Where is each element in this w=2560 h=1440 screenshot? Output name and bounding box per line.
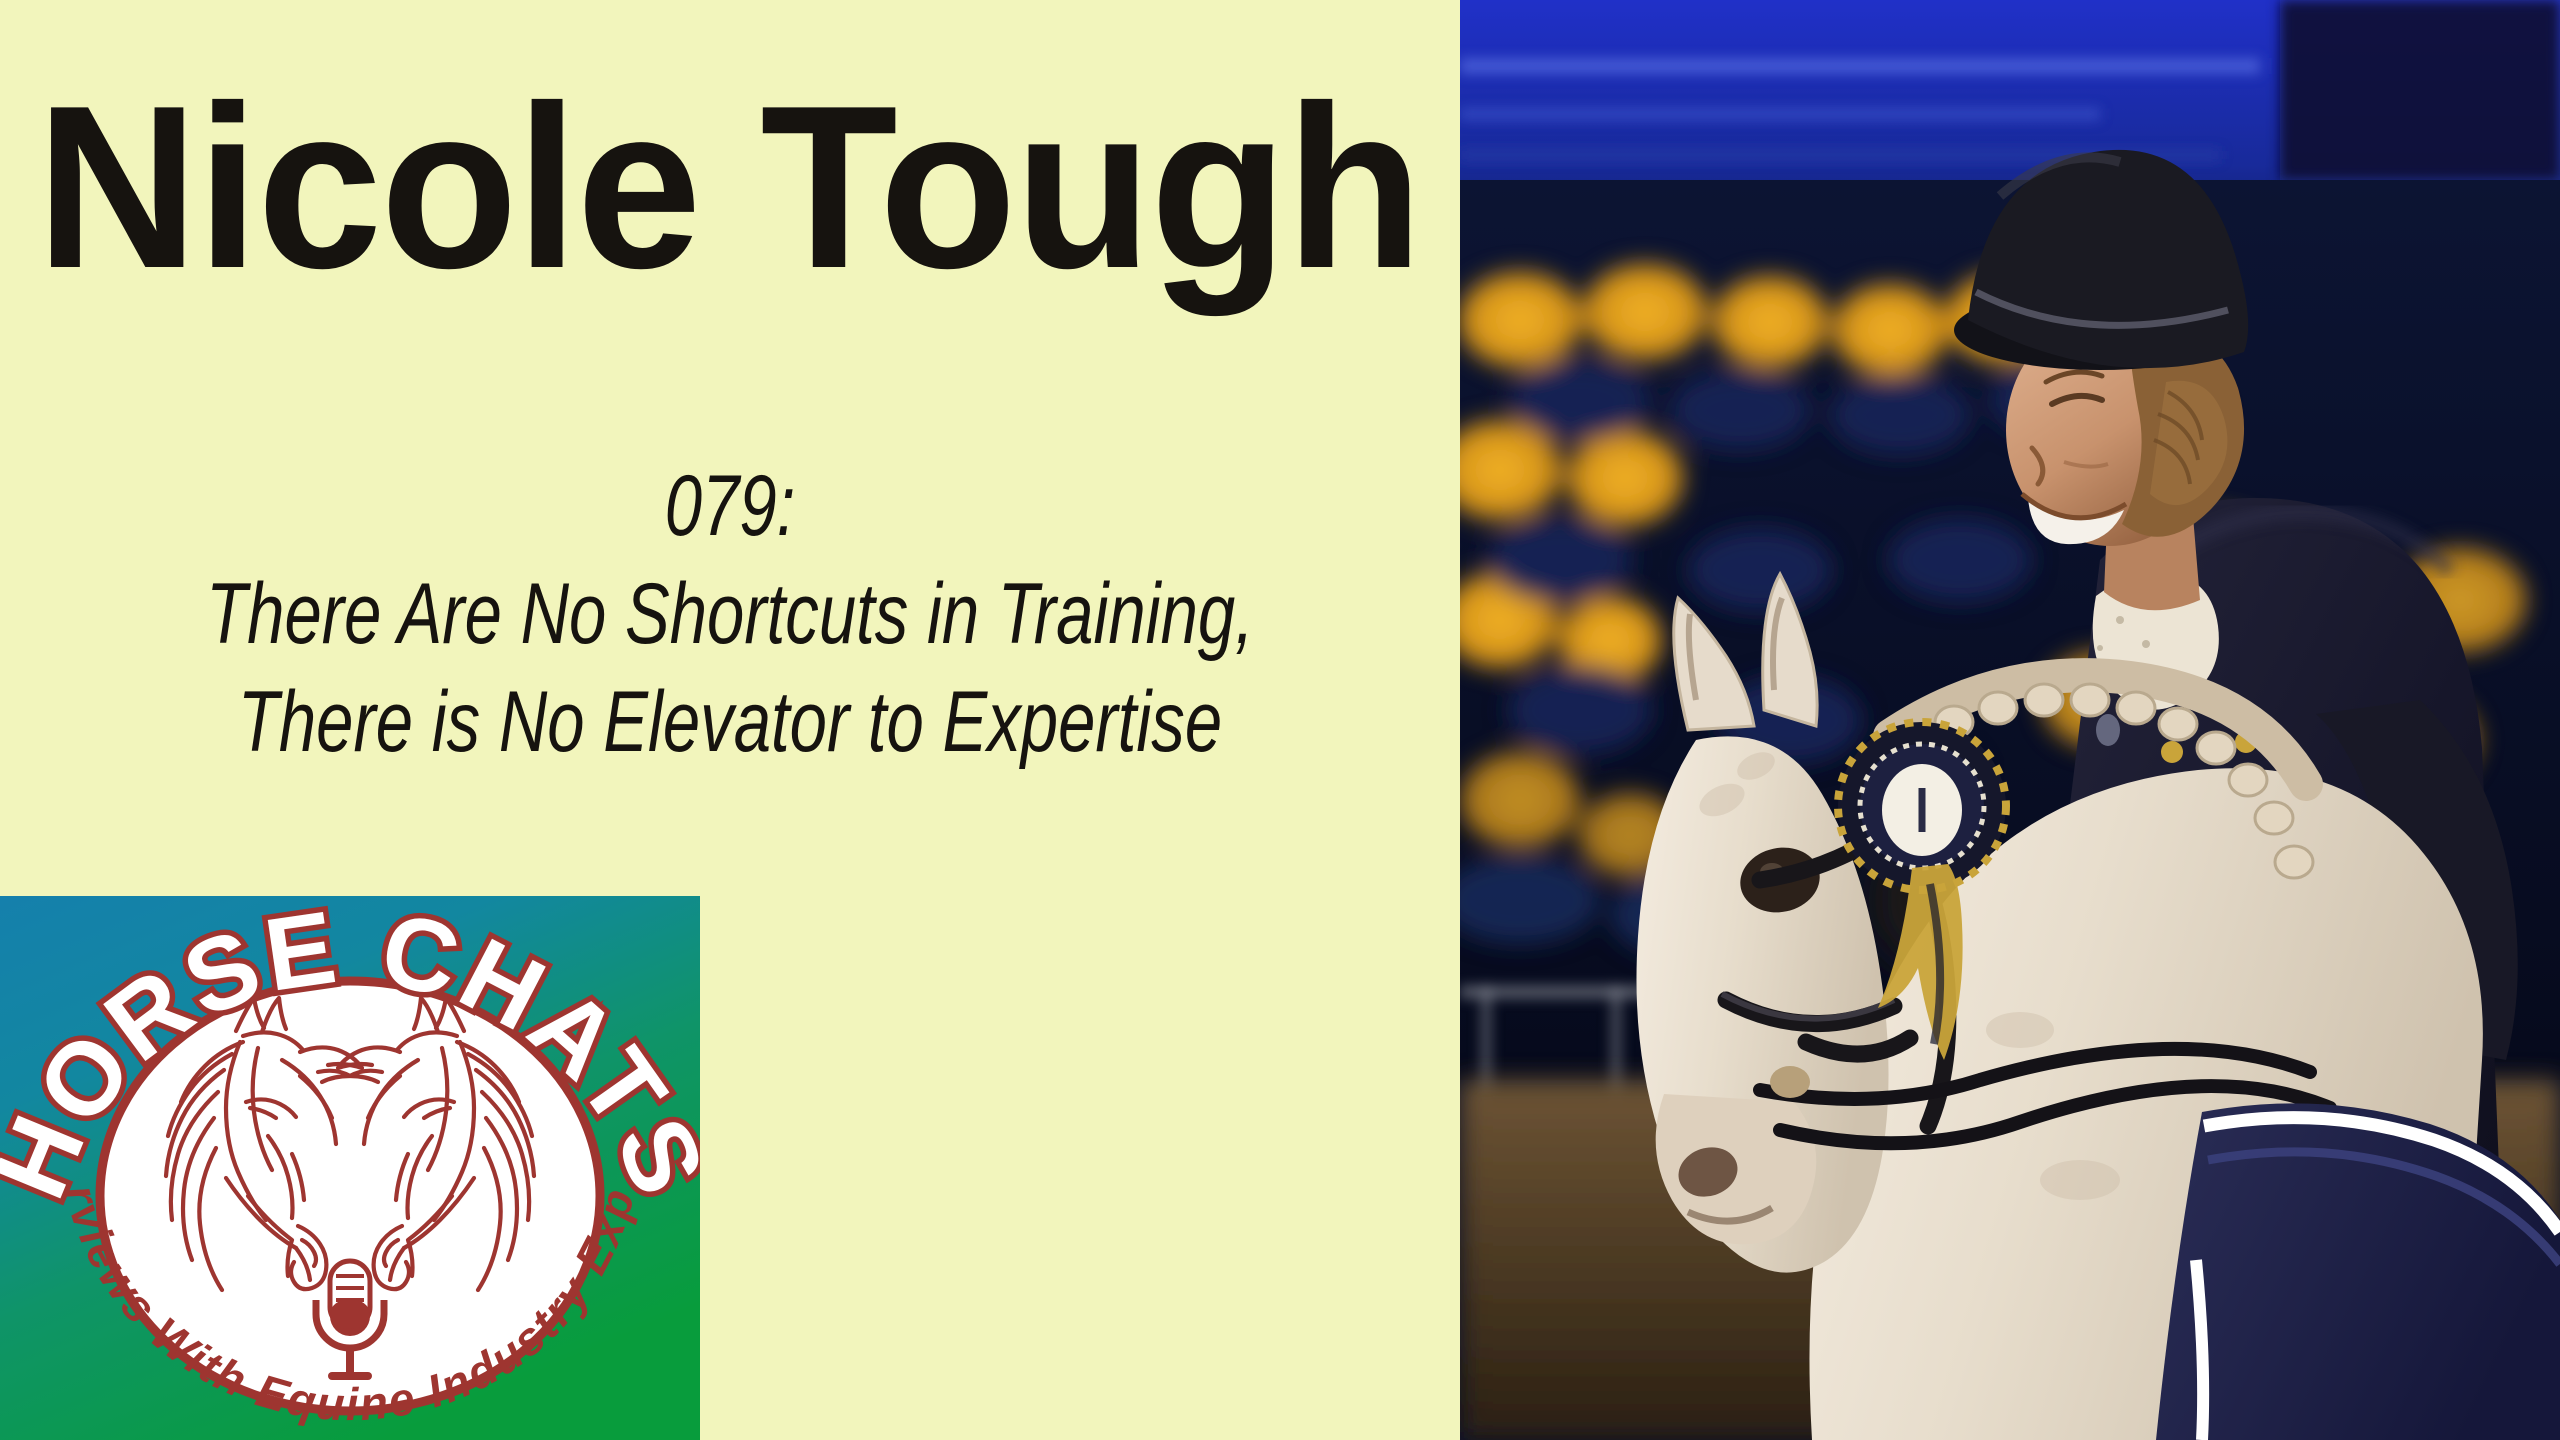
episode-title-line-1: There Are No Shortcuts in Training, [161,560,1300,668]
left-text-panel: Nicole Tough 079: There Are No Shortcuts… [0,0,1460,1440]
horse-chats-logo[interactable]: HORSE CHATS Interviews With Equine Indus… [0,896,700,1440]
episode-info: 079: There Are No Shortcuts in Training,… [0,452,1460,776]
guest-photo [1460,0,2560,1440]
episode-number: 079: [161,452,1300,560]
lapel-pin [2096,714,2120,746]
pad-edge-piping [2196,1260,2203,1440]
podcast-episode-cover: Nicole Tough 079: There Are No Shortcuts… [0,0,2560,1440]
episode-title-line-2: There is No Elevator to Expertise [161,668,1300,776]
page-title: Nicole Tough [36,72,1421,304]
horse-bit [1770,1066,1810,1098]
